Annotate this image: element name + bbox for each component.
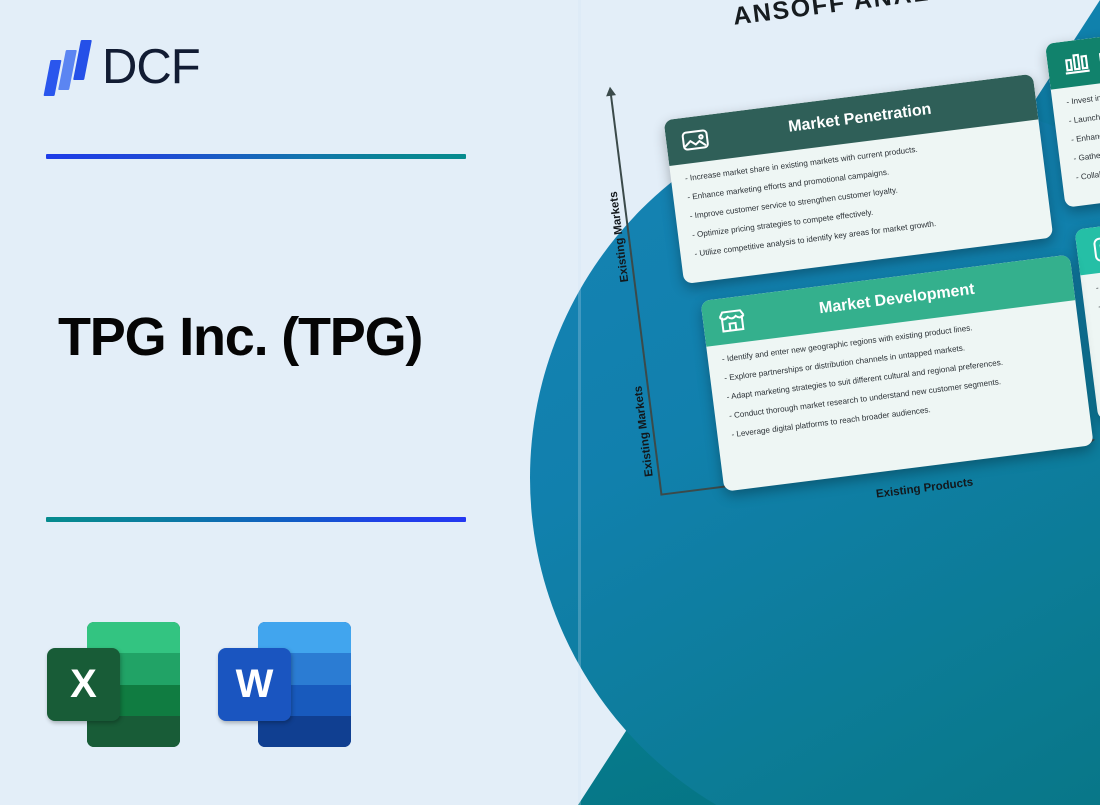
bullet-list: Invest in research and Launch new produc… [1066,71,1100,183]
word-file-icon[interactable]: W [218,622,351,747]
word-letter: W [218,648,291,721]
quadrant-card-market-development[interactable]: Market Development Identify and enter ne… [701,255,1094,492]
card-header: Diversification [1075,198,1100,275]
brand-logo[interactable]: DCF [45,38,200,96]
divider-top [46,154,466,159]
storefront-icon [714,302,750,338]
expand-arrows-icon [1088,231,1100,267]
page-title: TPG Inc. (TPG) [58,306,422,368]
quadrant-card-product-development[interactable]: Product Development Invest in research a… [1045,13,1100,208]
ansoff-matrix: ANSOFF ANALYSIS Existing Markets Existin… [600,15,1100,576]
brand-name: DCF [102,43,200,92]
image-icon [677,122,713,158]
quadrant-card-market-penetration[interactable]: Market Penetration Increase market share… [664,74,1054,284]
ansoff-title: ANSOFF ANALYSIS [731,0,992,32]
bar-chart-icon [1059,45,1095,81]
file-format-icons: X W [47,622,351,747]
dcf-bars-logo-icon [45,38,91,96]
panel-edge-line [578,0,581,805]
excel-file-icon[interactable]: X [47,622,180,747]
left-info-panel: DCF TPG Inc. (TPG) X W [0,0,530,805]
bullet-list: Explore opp Invest in ac Develop n Asses… [1096,257,1100,369]
card-header: Product Development [1045,13,1100,90]
x-axis-label-left: Existing Products [875,476,974,500]
divider-bottom [46,517,466,522]
excel-letter: X [47,648,120,721]
slide-canvas: ANSOFF ANALYSIS Existing Markets Existin… [0,0,1100,805]
